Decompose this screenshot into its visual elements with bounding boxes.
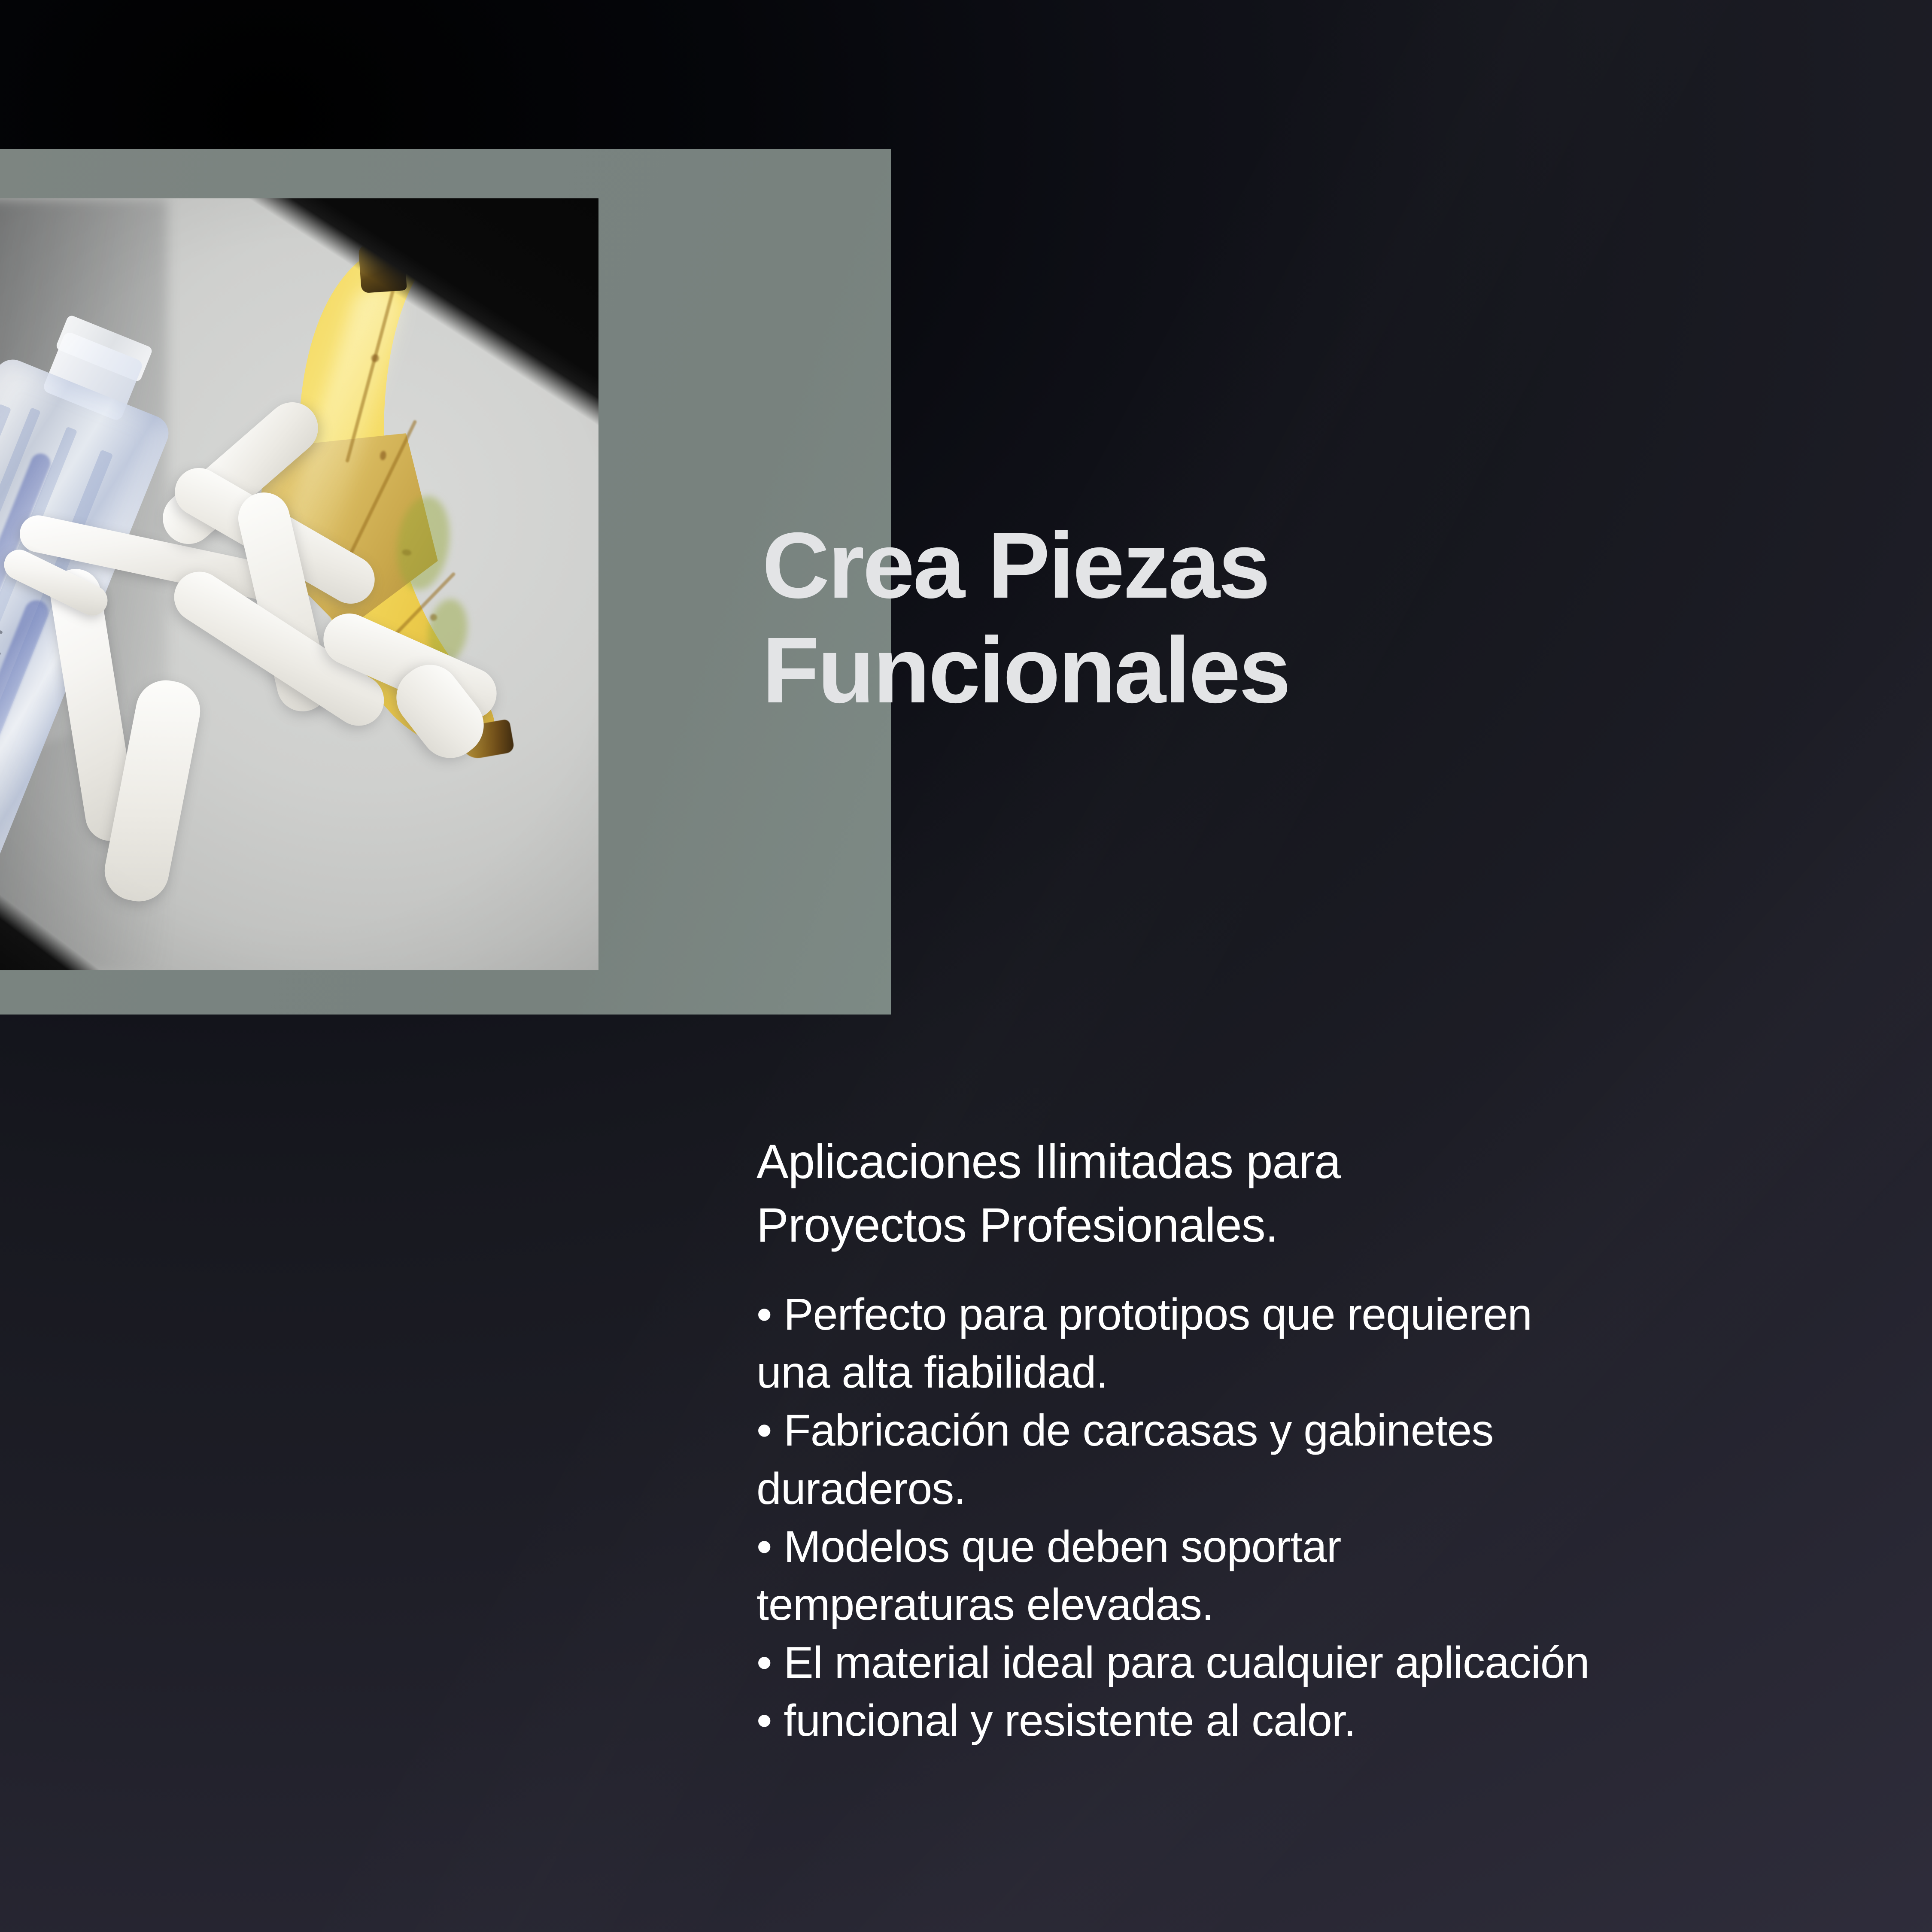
product-photo: [0, 198, 598, 970]
presentation-slide: Crea Piezas Funcionales Aplicaciones Ili…: [0, 0, 1932, 1932]
bullet-line: • Fabricación de carcasas y gabinetes: [756, 1402, 1838, 1460]
title-line-2: Funcionales: [762, 618, 1835, 723]
subtitle: Aplicaciones Ilimitadas para Proyectos P…: [756, 1130, 1787, 1257]
bullet-line: • funcional y resistente al calor.: [756, 1692, 1838, 1750]
photo-shadow-wedge-bottom: [0, 198, 598, 970]
bullet-line: duraderos.: [756, 1460, 1838, 1518]
feature-bullet-list: • Perfecto para prototipos que requieren…: [756, 1286, 1838, 1750]
subtitle-line-2: Proyectos Profesionales.: [756, 1194, 1787, 1257]
bullet-line: • Modelos que deben soportar: [756, 1518, 1838, 1576]
bullet-line: • Perfecto para prototipos que requieren: [756, 1286, 1838, 1344]
page-title: Crea Piezas Funcionales: [762, 513, 1835, 723]
title-line-1: Crea Piezas: [762, 513, 1835, 618]
bullet-line: una alta fiabilidad.: [756, 1344, 1838, 1402]
subtitle-line-1: Aplicaciones Ilimitadas para: [756, 1130, 1787, 1194]
bullet-line: temperaturas elevadas.: [756, 1576, 1838, 1634]
bullet-line: • El material ideal para cualquier aplic…: [756, 1634, 1838, 1692]
